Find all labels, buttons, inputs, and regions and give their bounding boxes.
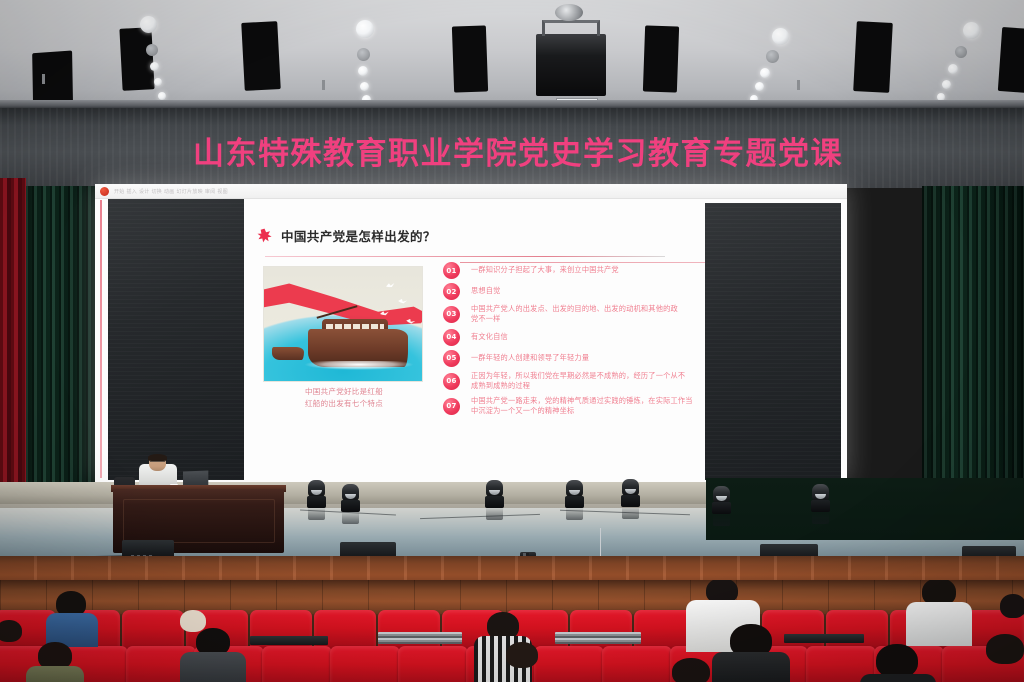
moving-head-light [341,484,360,512]
slide-title: 中国共产党是怎样出发的？ [281,226,436,245]
light-head [308,480,325,497]
audience-seat [826,610,888,650]
light-reflection [342,511,359,524]
person-torso [26,666,84,682]
audience-seating-area [0,580,1024,682]
item-number-badge: 04 [443,329,460,346]
ceiling-downlight [140,16,157,33]
ceiling-downlight [158,92,166,100]
item-text: 一群知识分子担起了大事，来创立中国共产党 [471,265,619,276]
moving-head-light [621,479,640,507]
dove-icon [385,282,395,290]
sprinkler-head [322,80,325,90]
led-panel-right [705,203,841,480]
item-number-badge: 01 [443,262,460,279]
water-wake [304,361,414,370]
ceiling-downlight [755,82,764,91]
ceiling-acoustic-panel [853,21,893,93]
light-head [342,484,359,501]
item-number-badge: 03 [443,306,460,323]
item-text: 一群年轻的人创建和领导了年轻力量 [471,353,589,364]
light-lens-icon [625,489,636,494]
ceiling-downlight [942,80,951,89]
item-text: 正因为年轻，所以我们党在早期必然是不成熟的，经历了一个从不成熟到成熟的过程 [471,371,689,392]
ceiling-downlight [948,64,958,74]
person-head [180,610,206,632]
audience-seat [262,646,332,682]
moving-head-light [811,484,830,512]
ceiling-downlight [360,82,369,91]
moving-head-light [485,480,504,508]
light-lens-icon [569,490,580,495]
ceiling-acoustic-panel [452,25,488,92]
ceiling-acoustic-panel [241,21,281,91]
red-boat-illustration [263,266,423,382]
person-head [1000,594,1024,618]
light-lens-icon [716,496,727,501]
ceiling-downlight [760,68,770,78]
ceiling-downlight [955,46,967,58]
presenter-hair [148,454,167,461]
led-panel-left [108,199,244,480]
ceiling-acoustic-panel [643,25,679,92]
light-reflection [308,507,325,520]
light-head [713,486,730,503]
powerpoint-ribbon-tabs[interactable]: 开始 插入 设计 切换 动画 幻灯片放映 审阅 视图 [114,188,228,195]
sprinkler-head [42,74,45,84]
moving-head-light [565,480,584,508]
audience-seat [398,646,468,682]
audience-seat [534,646,604,682]
ceiling-downlight [146,44,158,56]
light-lens-icon [311,490,322,495]
ceiling-downlight [766,50,779,63]
ceiling-downlight [154,78,162,86]
light-reflection [812,511,829,524]
auditorium-photo: 山东特殊教育职业学院党史学习教育专题党课 开始 插入 设计 切换 动画 幻灯片放… [0,0,1024,682]
audience-seat [378,610,440,650]
light-head [812,484,829,501]
projector-lens-icon [555,4,583,21]
person-torso [906,602,972,646]
caption-line-2: 红船的出发有七个特点 [263,398,425,410]
seating-back-wall [0,580,1024,614]
projector-mount [542,20,600,36]
light-reflection [622,506,639,519]
small-boat [272,347,304,360]
person-head [876,644,918,678]
seat-writing-desk [555,632,641,644]
red-seal-icon [257,228,272,243]
powerpoint-logo-icon [100,187,109,196]
item-number-badge: 07 [443,398,460,415]
image-caption: 中国共产党好比是红船 红船的出发有七个特点 [263,386,425,411]
stage-right-dark-wing [706,478,1024,540]
light-reflection [713,513,730,526]
person-torso [712,652,790,682]
dove-icon [398,299,408,306]
light-reflection [486,507,503,520]
moving-head-light [712,486,731,514]
ceiling-downlight [963,22,980,39]
slide-accent-line [100,200,102,478]
item-text: 思想自觉 [471,286,501,297]
seat-writing-desk [784,634,864,643]
audience-seat [330,646,400,682]
moving-head-light [307,480,326,508]
audience-seat [602,646,672,682]
light-head [566,480,583,497]
ceiling-downlight [150,62,159,71]
light-lens-icon [345,494,356,499]
ceiling-projector-box [536,34,606,96]
seat-writing-desk [378,632,462,644]
light-lens-icon [489,490,500,495]
seat-writing-desk [250,636,328,645]
caption-line-1: 中国共产党好比是红船 [263,386,425,398]
ceiling-acoustic-panel [119,27,154,91]
ceiling-acoustic-panel [998,27,1024,93]
person-torso [180,652,246,682]
item-number-badge: 05 [443,350,460,367]
person-head [986,634,1024,664]
glasses-icon [150,461,165,464]
sprinkler-head [797,80,800,90]
light-lens-icon [815,494,826,499]
item-text: 有文化自信 [471,332,508,343]
person-head [672,658,710,682]
item-number-badge: 06 [443,373,460,390]
person-head [0,620,22,642]
light-head [486,480,503,497]
person-torso [860,674,936,682]
event-banner-title: 山东特殊教育职业学院党史学习教育专题党课 [110,128,926,172]
ceiling-downlight [772,28,789,45]
slide-title-row: 中国共产党是怎样出发的？ [257,226,436,245]
person-head [506,642,538,668]
audience-seat [122,610,184,650]
ceiling-downlight [358,66,368,76]
ceiling-downlight [356,20,374,38]
item-number-badge: 02 [443,283,460,300]
auditorium-ceiling [0,0,1024,112]
item-text: 中国共产党一路走来，党的精神气质通过实践的锤炼，在实际工作当中沉淀为一个又一个的… [471,396,695,417]
item-text: 中国共产党人的出发点、出发的目的地、出发的动机和其他的政党不一样 [471,304,681,325]
ceiling-downlight [357,48,370,61]
microphone-stand [600,528,601,558]
audience-seat [570,610,632,650]
light-reflection [566,507,583,520]
podium-front-panel [123,499,275,543]
powerpoint-toolbar[interactable]: 开始 插入 设计 切换 动画 幻灯片放映 审阅 视图 [95,184,847,199]
slide-divider [265,256,665,257]
light-head [622,479,639,496]
